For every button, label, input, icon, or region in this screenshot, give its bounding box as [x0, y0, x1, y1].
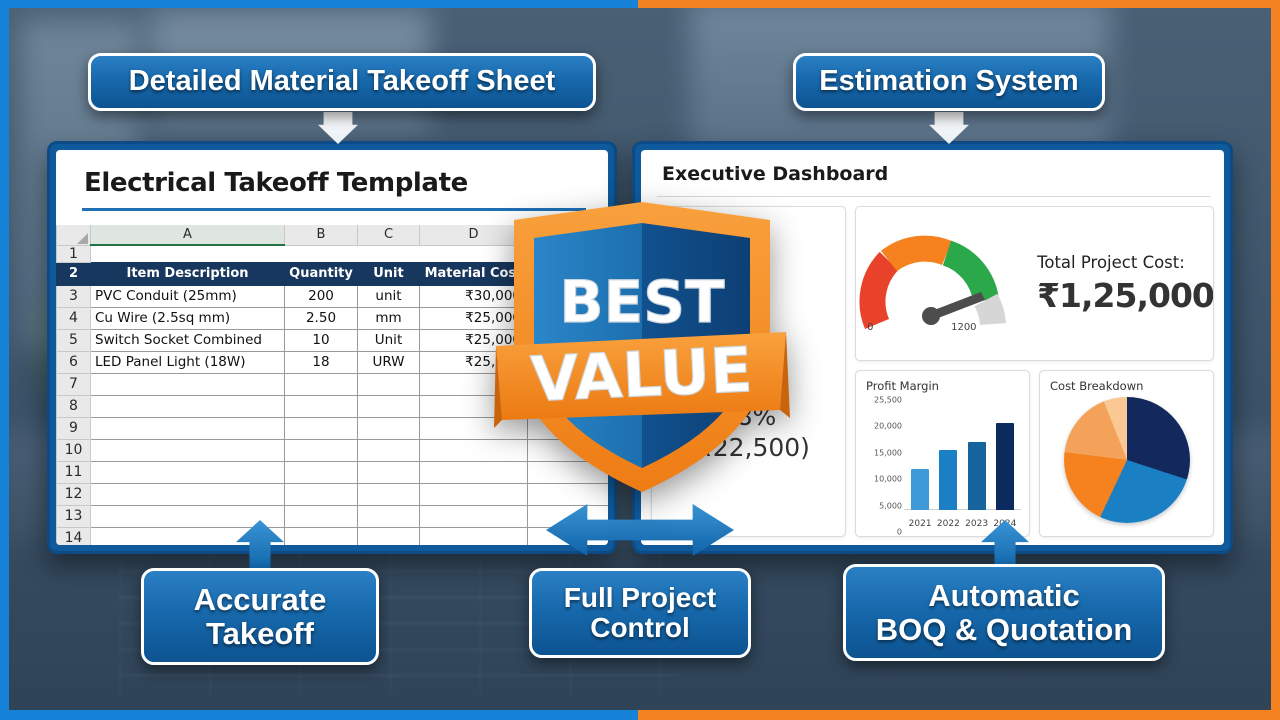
frame-border-right	[1271, 0, 1280, 720]
frame-border-bottom-left	[0, 710, 638, 720]
profit-margin-bar-chart: 0 5,000 10,000 15,000 20,000 25,500 2021…	[864, 397, 1023, 532]
cell-blank[interactable]	[285, 527, 358, 545]
cell-quantity[interactable]: 200	[285, 285, 358, 307]
cost-breakdown-pie-chart	[1064, 397, 1190, 523]
callout-label: Detailed Material Takeoff Sheet	[129, 66, 556, 97]
spacer-cell	[91, 245, 285, 262]
cell-blank[interactable]	[358, 439, 420, 461]
cell-blank[interactable]	[285, 417, 358, 439]
th-unit: Unit	[358, 262, 420, 285]
callout-label: Full Project Control	[564, 583, 716, 643]
profit-margin-title: Profit Margin	[856, 371, 1029, 393]
cell-blank[interactable]	[285, 483, 358, 505]
callout-automatic-boq-quotation: Automatic BOQ & Quotation	[843, 564, 1165, 661]
gauge-needle	[922, 292, 985, 325]
spacer-cell	[285, 245, 358, 262]
cell-blank[interactable]	[358, 461, 420, 483]
row-header[interactable]: 7	[57, 373, 91, 395]
cell-blank[interactable]	[285, 395, 358, 417]
cell-description[interactable]: Cu Wire (2.5sq mm)	[91, 307, 285, 329]
select-all-corner[interactable]	[57, 225, 91, 245]
dashboard-title: Executive Dashboard	[641, 150, 1224, 185]
cost-breakdown-title: Cost Breakdown	[1040, 371, 1213, 393]
cell-unit[interactable]: unit	[358, 285, 420, 307]
bar	[968, 442, 986, 510]
cell-description[interactable]: Switch Socket Combined	[91, 329, 285, 351]
dashboard-bottom-row: Profit Margin 0 5,000 10,000 15,000 20,0…	[855, 370, 1214, 537]
cell-quantity[interactable]: 10	[285, 329, 358, 351]
table-row[interactable]: 13	[57, 505, 609, 527]
bar-chart-y-axis: 0 5,000 10,000 15,000 20,000 25,500	[864, 397, 904, 532]
row-header[interactable]: 6	[57, 351, 91, 373]
ytick-5: 25,500	[874, 395, 902, 404]
row-header[interactable]: 14	[57, 527, 91, 545]
row-header[interactable]: 5	[57, 329, 91, 351]
cell-blank[interactable]	[91, 461, 285, 483]
callout-accurate-takeoff: Accurate Takeoff	[141, 568, 379, 665]
ytick-1: 5,000	[879, 501, 902, 510]
bar-x-label: 2022	[934, 519, 962, 529]
column-header-b[interactable]: B	[285, 225, 358, 245]
frame-border-top-right	[638, 0, 1280, 8]
cell-blank[interactable]	[91, 483, 285, 505]
frame-border-top-left	[0, 0, 638, 8]
row-header[interactable]: 13	[57, 505, 91, 527]
cell-unit[interactable]: URW	[358, 351, 420, 373]
cell-blank[interactable]	[91, 505, 285, 527]
bar	[996, 423, 1014, 510]
row-header[interactable]: 3	[57, 285, 91, 307]
cell-blank[interactable]	[358, 395, 420, 417]
bar-column	[911, 401, 929, 510]
ytick-2: 10,000	[874, 475, 902, 484]
callout-full-project-control: Full Project Control	[529, 568, 751, 658]
cell-blank[interactable]	[91, 439, 285, 461]
callout-detailed-material-takeoff-sheet: Detailed Material Takeoff Sheet	[88, 53, 596, 111]
column-header-c[interactable]: C	[358, 225, 420, 245]
bar-chart-bars	[906, 401, 1019, 510]
cell-blank[interactable]	[420, 505, 528, 527]
total-project-cost-label: Total Project Cost:	[1037, 253, 1214, 272]
gauge-max-label: 1200	[951, 322, 976, 333]
th-item-description: Item Description	[91, 262, 285, 285]
row-header[interactable]: 12	[57, 483, 91, 505]
bar-x-label: 2023	[963, 519, 991, 529]
cell-blank[interactable]	[91, 395, 285, 417]
bar-column	[939, 401, 957, 510]
row-header[interactable]: 10	[57, 439, 91, 461]
bar	[911, 469, 929, 510]
row-header[interactable]: 9	[57, 417, 91, 439]
callout-estimation-system: Estimation System	[793, 53, 1105, 111]
gauge-chart: 0 1200	[855, 228, 1015, 340]
cost-breakdown-card: Cost Breakdown	[1039, 370, 1214, 537]
gauge-readout: Total Project Cost: ₹1,25,000	[1037, 253, 1214, 315]
bar	[939, 450, 957, 510]
cell-blank[interactable]	[91, 373, 285, 395]
cell-blank[interactable]	[285, 505, 358, 527]
cell-blank[interactable]	[91, 417, 285, 439]
bar-column	[996, 401, 1014, 510]
cell-blank[interactable]	[285, 373, 358, 395]
column-header-a[interactable]: A	[91, 225, 285, 245]
cell-blank[interactable]	[285, 461, 358, 483]
bar-column	[968, 401, 986, 510]
row-header[interactable]: 2	[57, 262, 91, 285]
cell-blank[interactable]	[420, 527, 528, 545]
cell-description[interactable]: LED Panel Light (18W)	[91, 351, 285, 373]
cell-unit[interactable]: Unit	[358, 329, 420, 351]
arrow-down-icon	[318, 112, 358, 144]
cell-blank[interactable]	[358, 483, 420, 505]
cell-quantity[interactable]: 18	[285, 351, 358, 373]
gauge-min-label: 0	[867, 322, 873, 333]
poster-canvas: Estimate CONSTRUCTION INDIA Electrical T…	[0, 0, 1280, 720]
cell-blank[interactable]	[358, 505, 420, 527]
ytick-0: 0	[897, 528, 902, 537]
cell-unit[interactable]: mm	[358, 307, 420, 329]
cell-description[interactable]: PVC Conduit (25mm)	[91, 285, 285, 307]
best-value-badge: BEST VALUE	[494, 196, 790, 498]
badge-line1: BEST	[559, 268, 725, 336]
total-project-cost-value: ₹1,25,000	[1037, 276, 1214, 315]
th-quantity: Quantity	[285, 262, 358, 285]
badge-line2: VALUE	[529, 333, 754, 416]
row-header[interactable]: 11	[57, 461, 91, 483]
bar-x-label: 2021	[906, 519, 934, 529]
ytick-4: 20,000	[874, 422, 902, 431]
row-header[interactable]: 4	[57, 307, 91, 329]
cell-blank[interactable]	[358, 527, 420, 545]
callout-label: Estimation System	[819, 66, 1078, 97]
frame-border-left	[0, 0, 9, 720]
cell-blank[interactable]	[358, 373, 420, 395]
callout-label: Automatic BOQ & Quotation	[876, 579, 1133, 646]
row-header[interactable]: 8	[57, 395, 91, 417]
cell-quantity[interactable]: 2.50	[285, 307, 358, 329]
row-header[interactable]: 1	[57, 245, 91, 262]
callout-label: Accurate Takeoff	[194, 583, 327, 650]
spacer-cell	[358, 245, 420, 262]
ytick-3: 15,000	[874, 448, 902, 457]
cell-blank[interactable]	[285, 439, 358, 461]
total-project-cost-gauge-card: 0 1200 Total Project Cost: ₹1,25,000	[855, 206, 1214, 361]
table-row[interactable]: 14	[57, 527, 609, 545]
sheet-title: Electrical Takeoff Template	[56, 150, 608, 198]
frame-border-bottom-right	[638, 710, 1280, 720]
profit-margin-card: Profit Margin 0 5,000 10,000 15,000 20,0…	[855, 370, 1030, 537]
gauge-svg	[855, 228, 1015, 340]
cell-blank[interactable]	[358, 417, 420, 439]
